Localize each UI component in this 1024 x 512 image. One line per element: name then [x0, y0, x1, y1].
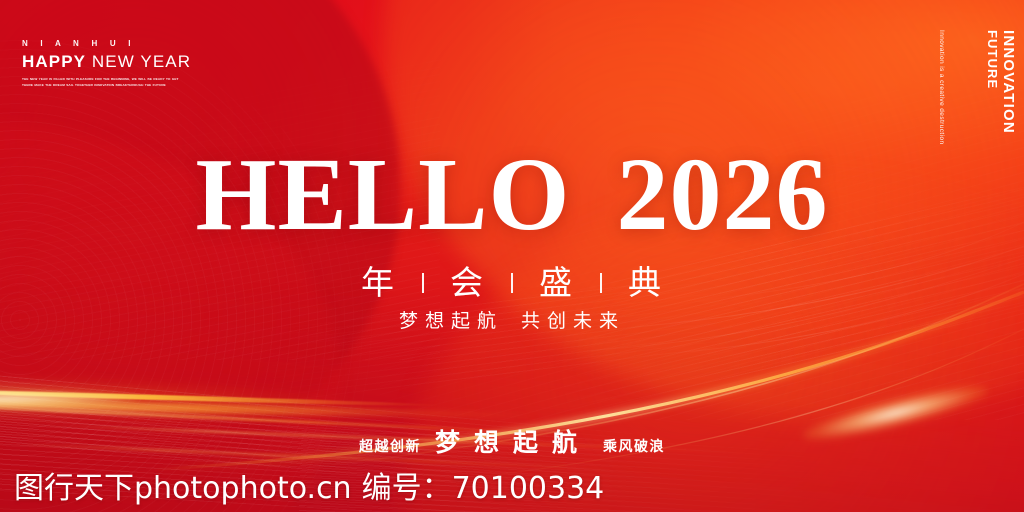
- brand-title-thin: NEW YEAR: [86, 52, 191, 71]
- chinese-bottom-slogan: 超越创新 梦想起航 乘风破浪: [0, 423, 1024, 459]
- brand-title-bold: HAPPY: [22, 52, 86, 71]
- watermark-site: 图行天下photophoto.cn: [14, 471, 352, 506]
- slogan-left: 超越创新: [359, 436, 421, 456]
- brand-kicker: N I A N H U I: [22, 40, 191, 48]
- brand-blurb: THE NEW YEAR IS FILLED WITH PLEASURE FOR…: [22, 77, 188, 88]
- chinese-title-separator-1: [422, 273, 424, 293]
- chinese-subtitle-row: 梦想起航共创未来: [0, 312, 1024, 331]
- slogan-center: 梦想起航: [435, 423, 591, 459]
- vertical-rail: INNOVATION FUTURE Innovation is a creati…: [938, 30, 1017, 144]
- chinese-title-char-2: 会: [450, 266, 485, 299]
- poster-canvas: N I A N H U I HAPPY NEW YEAR THE NEW YEA…: [0, 0, 1024, 512]
- vertical-text-innovation: INNOVATION: [1001, 30, 1016, 134]
- vertical-text-future: FUTURE: [986, 30, 999, 89]
- brand-block: N I A N H U I HAPPY NEW YEAR THE NEW YEA…: [22, 40, 191, 88]
- watermark-id-value: 70100334: [452, 471, 605, 506]
- chinese-title-separator-3: [600, 273, 602, 293]
- chinese-title-char-1: 年: [361, 266, 396, 299]
- chinese-title-char-4: 典: [628, 266, 663, 299]
- chinese-title-char-3: 盛: [539, 266, 574, 299]
- chinese-subtitle-right: 共创未来: [521, 310, 625, 332]
- page-title: HELLO2026: [0, 143, 1024, 247]
- watermark-id-label: 编号：: [362, 471, 452, 506]
- watermark: 图行天下photophoto.cn编号：70100334: [14, 474, 604, 504]
- headline-year: 2026: [616, 137, 828, 252]
- vertical-rail-secondary-column: FUTURE Innovation is a creative destruct…: [938, 30, 1000, 144]
- slogan-right: 乘风破浪: [603, 436, 665, 456]
- chinese-subtitle-left: 梦想起航: [399, 310, 503, 332]
- poster-content: N I A N H U I HAPPY NEW YEAR THE NEW YEA…: [0, 0, 1024, 512]
- headline-greeting: HELLO: [196, 137, 571, 252]
- chinese-title-row: 年 会 盛 典: [0, 266, 1024, 299]
- chinese-title-separator-2: [511, 273, 513, 293]
- vertical-text-tagline: Innovation is a creative destruction: [938, 30, 945, 144]
- brand-title: HAPPY NEW YEAR: [22, 53, 191, 70]
